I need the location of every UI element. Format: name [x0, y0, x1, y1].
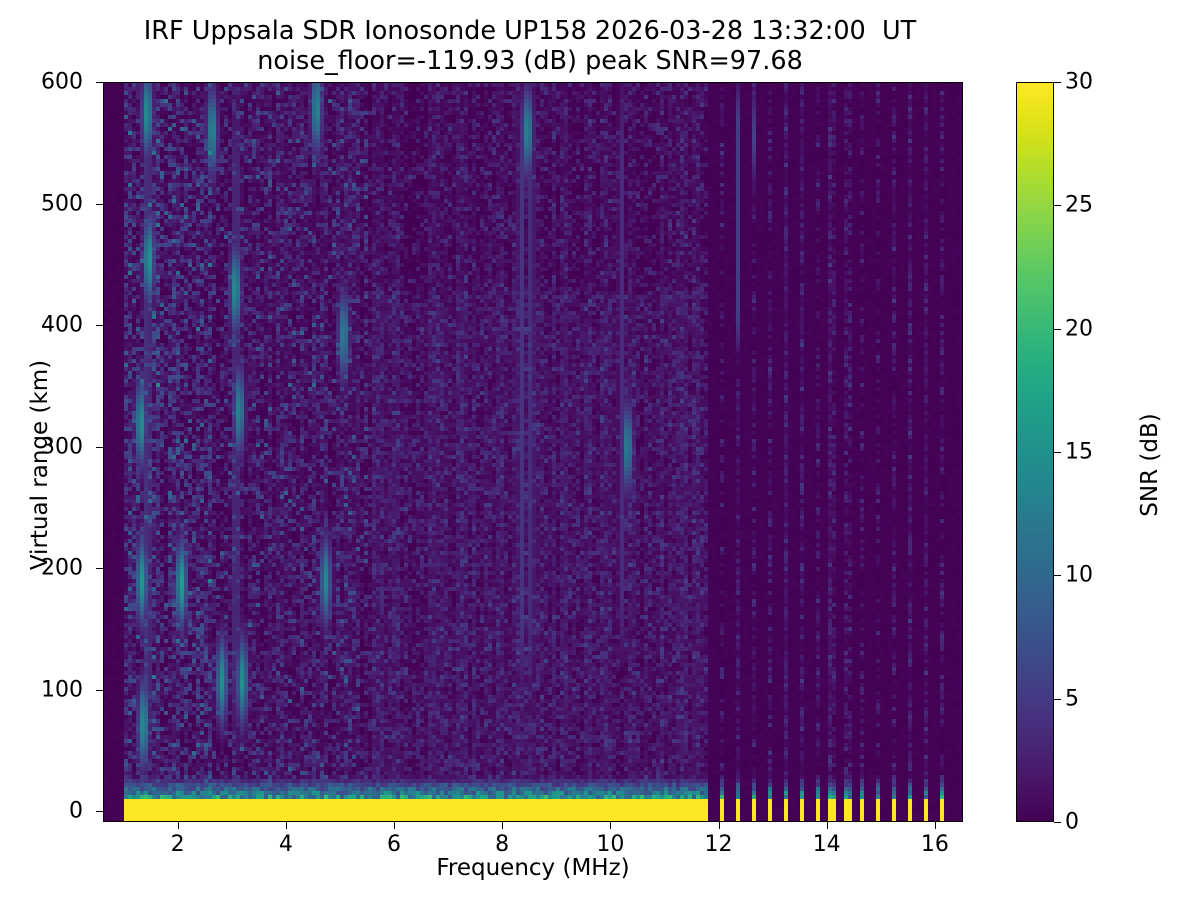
y-ticklabel-100: 100 [25, 677, 83, 702]
x-axis-label: Frequency (MHz) [103, 855, 963, 881]
x-tick-12 [719, 822, 720, 829]
cbar-ticklabel-30: 30 [1065, 70, 1093, 95]
x-ticklabel-12: 12 [684, 832, 754, 857]
y-tick-600 [96, 82, 103, 83]
x-tick-6 [394, 822, 395, 829]
y-ticklabel-600: 600 [25, 70, 83, 95]
ionogram-heatmap [104, 83, 963, 822]
x-tick-4 [286, 822, 287, 829]
cbar-tick-10 [1054, 575, 1061, 576]
x-tick-10 [610, 822, 611, 829]
chart-title: IRF Uppsala SDR Ionosonde UP158 2026-03-… [0, 16, 1060, 76]
y-tick-100 [96, 690, 103, 691]
y-tick-500 [96, 204, 103, 205]
x-ticklabel-4: 4 [251, 832, 321, 857]
y-tick-400 [96, 325, 103, 326]
cbar-tick-25 [1054, 205, 1061, 206]
cbar-ticklabel-15: 15 [1065, 440, 1093, 465]
figure-canvas: IRF Uppsala SDR Ionosonde UP158 2026-03-… [0, 0, 1200, 900]
y-tick-200 [96, 568, 103, 569]
title-line-2: noise_floor=-119.93 (dB) peak SNR=97.68 [0, 46, 1060, 76]
cbar-tick-30 [1054, 82, 1061, 83]
title-line-1: IRF Uppsala SDR Ionosonde UP158 2026-03-… [0, 16, 1060, 46]
colorbar-label: SNR (dB) [1137, 315, 1163, 615]
x-ticklabel-6: 6 [359, 832, 429, 857]
cbar-ticklabel-10: 10 [1065, 563, 1093, 588]
cbar-tick-20 [1054, 329, 1061, 330]
colorbar [1016, 82, 1054, 822]
cbar-ticklabel-20: 20 [1065, 316, 1093, 341]
x-tick-14 [827, 822, 828, 829]
y-tick-0 [96, 811, 103, 812]
cbar-tick-5 [1054, 699, 1061, 700]
y-ticklabel-0: 0 [25, 799, 83, 824]
colorbar-gradient [1017, 83, 1054, 822]
cbar-tick-0 [1054, 822, 1061, 823]
x-ticklabel-10: 10 [575, 832, 645, 857]
y-tick-300 [96, 447, 103, 448]
x-tick-2 [178, 822, 179, 829]
x-tick-16 [935, 822, 936, 829]
cbar-tick-15 [1054, 452, 1061, 453]
cbar-ticklabel-5: 5 [1065, 686, 1079, 711]
x-ticklabel-16: 16 [900, 832, 970, 857]
x-ticklabel-8: 8 [467, 832, 537, 857]
x-tick-8 [502, 822, 503, 829]
y-axis-label: Virtual range (km) [27, 315, 53, 615]
cbar-ticklabel-0: 0 [1065, 810, 1079, 835]
y-ticklabel-500: 500 [25, 191, 83, 216]
x-ticklabel-2: 2 [143, 832, 213, 857]
ionogram-plot-area [103, 82, 963, 822]
cbar-ticklabel-25: 25 [1065, 193, 1093, 218]
x-ticklabel-14: 14 [792, 832, 862, 857]
